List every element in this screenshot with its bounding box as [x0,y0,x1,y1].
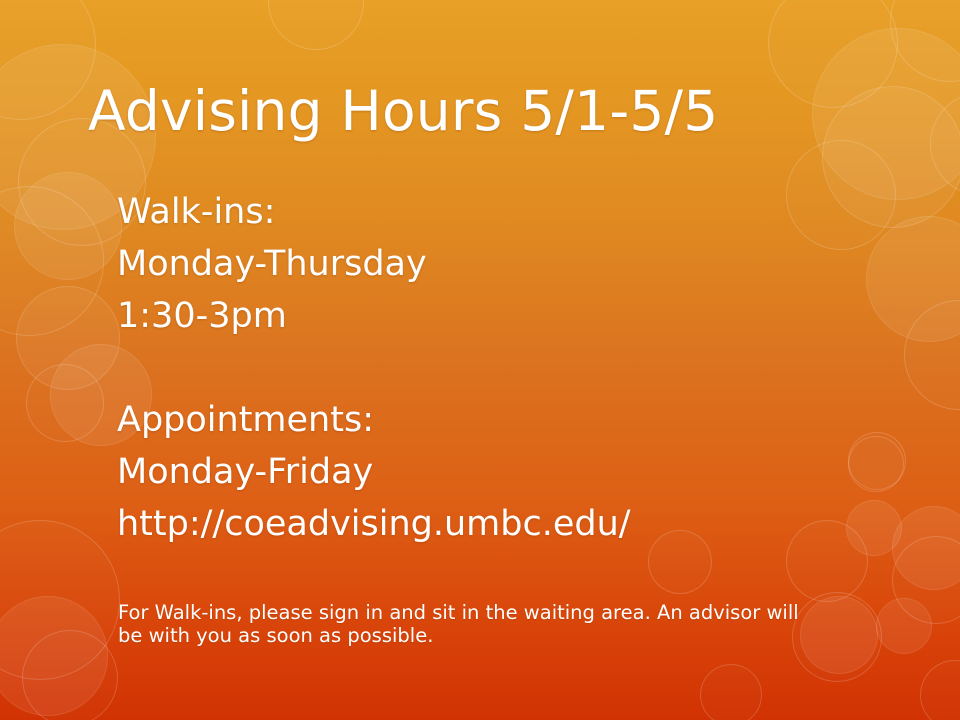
bokeh-circle [0,596,108,716]
bokeh-circle [920,660,960,720]
body-line-walkins-days: Monday-Thursday [117,238,907,290]
body-line-appointments-url[interactable]: http://coeadvising.umbc.edu/ [117,498,907,550]
body-line-appointments-days: Monday-Friday [117,446,907,498]
walkin-instructions-note: For Walk-ins, please sign in and sit in … [118,601,818,647]
body-line-walkins-time: 1:30-3pm [117,290,907,342]
bokeh-circle [0,0,96,120]
bokeh-circle [14,172,122,280]
bokeh-circle [904,300,960,410]
bokeh-circle [700,664,762,720]
bokeh-circle [26,364,104,442]
page-title: Advising Hours 5/1-5/5 [88,79,718,143]
bokeh-circle [876,598,932,654]
body-line-walkins-label: Walk-ins: [117,186,907,238]
bokeh-circle [22,630,118,720]
bokeh-circle [16,286,120,390]
bokeh-circle [768,0,898,108]
bokeh-circle [0,520,120,680]
bokeh-circle [0,186,104,336]
bokeh-circle [812,28,960,200]
bokeh-circle [930,92,960,196]
advising-hours-body: Walk-ins: Monday-Thursday 1:30-3pm Appoi… [117,186,907,550]
body-line-spacer [117,342,907,394]
slide-canvas: Advising Hours 5/1-5/5 Walk-ins: Monday-… [0,0,960,720]
bokeh-circle [268,0,364,50]
body-line-appointments-label: Appointments: [117,394,907,446]
bokeh-circle [890,0,960,82]
